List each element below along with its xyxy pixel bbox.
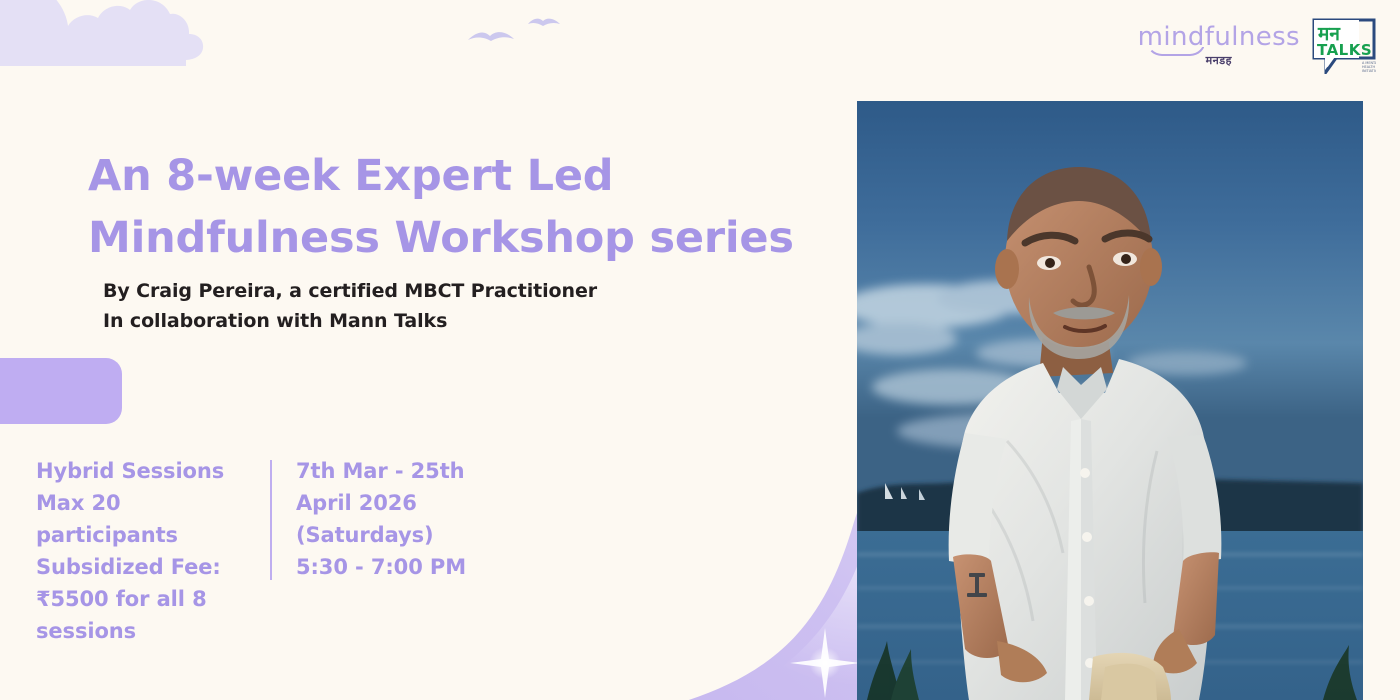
logo-group: mindfulness मनडह मन TALKS A MENTAL HEALT…	[1138, 18, 1376, 74]
headline-line-2: Mindfulness Workshop series	[88, 213, 794, 263]
detail-fee-label: Subsidized Fee:	[36, 552, 268, 584]
detail-max-participants: Max 20 participants	[36, 488, 268, 552]
details-divider	[270, 460, 272, 580]
byline-block: By Craig Pereira, a certified MBCT Pract…	[103, 276, 723, 336]
cloud-icon	[0, 0, 220, 107]
details-left-column: Hybrid Sessions Max 20 participants Subs…	[36, 456, 268, 647]
headline-block: An 8-week Expert Led Mindfulness Worksho…	[88, 146, 828, 270]
decorative-chip	[0, 358, 122, 424]
details-right-column: 7th Mar - 25th April 2026 (Saturdays) 5:…	[296, 456, 506, 584]
svg-text:TALKS: TALKS	[1317, 41, 1372, 59]
headline-line-1: An 8-week Expert Led	[88, 151, 613, 201]
mindfulness-swoosh-icon	[1146, 40, 1206, 56]
poster-canvas: mindfulness मनडह मन TALKS A MENTAL HEALT…	[0, 0, 1400, 700]
sparkle-icon	[790, 628, 860, 698]
presenter-photo-illustration	[857, 101, 1363, 700]
byline-line-1: By Craig Pereira, a certified MBCT Pract…	[103, 276, 723, 306]
svg-text:INITIATIVE: INITIATIVE	[1362, 69, 1376, 73]
mindfulness-logo: mindfulness मनडह	[1138, 24, 1300, 68]
details-block: Hybrid Sessions Max 20 participants Subs…	[36, 456, 506, 647]
flying-birds-icon	[462, 12, 572, 56]
detail-date-range-2: April 2026	[296, 488, 506, 520]
presenter-photo	[857, 101, 1363, 700]
detail-fee-amount-cont: sessions	[36, 616, 268, 648]
mann-talks-logo: मन TALKS A MENTAL HEALTH INITIATIVE	[1312, 18, 1376, 74]
detail-date-range-1: 7th Mar - 25th	[296, 456, 506, 488]
detail-hybrid-sessions: Hybrid Sessions	[36, 456, 268, 488]
detail-day-of-week: (Saturdays)	[296, 520, 506, 552]
byline-line-2: In collaboration with Mann Talks	[103, 306, 723, 336]
mann-talks-bubble-icon: मन TALKS A MENTAL HEALTH INITIATIVE	[1312, 18, 1376, 74]
detail-time: 5:30 - 7:00 PM	[296, 552, 506, 584]
detail-fee-amount: ₹5500 for all 8	[36, 584, 268, 616]
